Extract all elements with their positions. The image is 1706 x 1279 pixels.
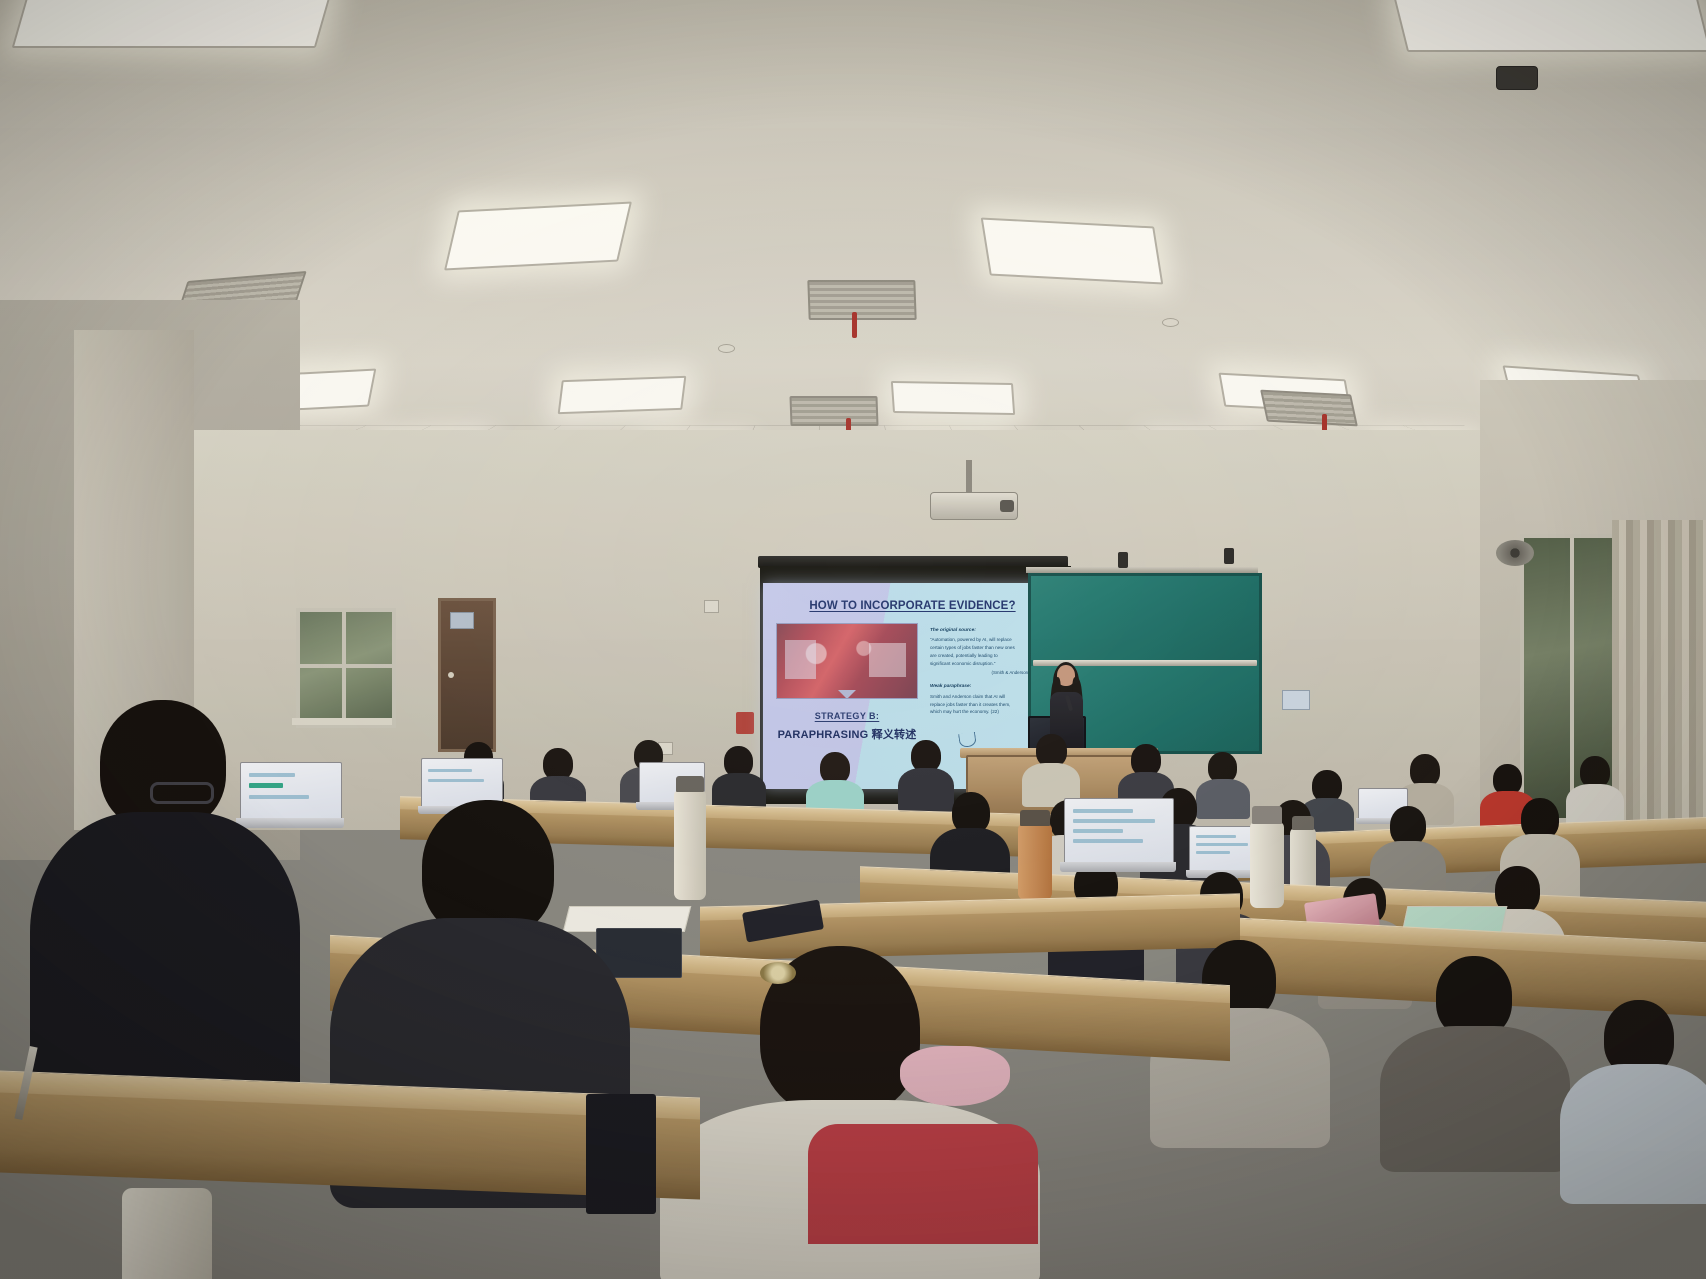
student-head — [100, 700, 226, 830]
ceiling-clip — [852, 312, 857, 338]
student — [1022, 734, 1080, 806]
smoke-detector-icon — [1162, 318, 1179, 327]
water-bottle — [1250, 822, 1284, 908]
door-knob-icon[interactable] — [448, 672, 454, 678]
blackboard-lamp — [1118, 552, 1128, 568]
door-sign — [450, 612, 474, 629]
curtain — [1612, 520, 1706, 860]
ceiling-light — [981, 217, 1164, 284]
window-sill — [292, 718, 392, 725]
slide-photo-thumbnail — [776, 623, 918, 699]
ceiling-light — [12, 0, 333, 48]
student — [1380, 956, 1570, 1166]
student-body — [1560, 1064, 1706, 1204]
student — [30, 700, 300, 1100]
smoke-detector-icon — [718, 344, 735, 353]
laptop-base — [1060, 862, 1176, 872]
water-bottle — [1290, 828, 1316, 892]
ceiling-vent — [807, 280, 916, 320]
student — [1560, 1000, 1706, 1200]
camera-icon — [1496, 66, 1538, 90]
projector-mount — [966, 460, 972, 496]
blackboard-lamp — [1224, 548, 1234, 564]
projector-lens-icon — [1000, 500, 1014, 512]
student-body — [1380, 1026, 1570, 1172]
ceiling-light — [891, 381, 1015, 415]
slide-strategy-label: STRATEGY B: — [773, 711, 921, 721]
bottle-cap-icon — [1252, 806, 1282, 824]
eyeglasses-icon — [150, 782, 214, 804]
wall-outlet — [704, 600, 719, 613]
ceiling-light — [558, 376, 687, 414]
student-body — [30, 812, 300, 1112]
hair-clip-icon — [760, 962, 796, 984]
smartphone[interactable] — [586, 1094, 656, 1214]
laptop-screen — [1064, 798, 1174, 864]
student-scarf — [808, 1124, 1038, 1244]
laptop[interactable] — [1060, 798, 1176, 872]
bottle-cap-icon — [1020, 810, 1050, 826]
bottle-cap-icon — [1292, 816, 1314, 830]
blackboard-panel — [1031, 576, 1259, 660]
face-mask — [900, 1046, 1010, 1106]
ceiling-light — [1393, 0, 1706, 52]
down-arrow-icon — [838, 690, 856, 699]
blackboard-poster — [1282, 690, 1310, 710]
bottle-cap-icon — [676, 776, 704, 792]
student — [712, 746, 766, 812]
lecture-hall-photo: HOW TO INCORPORATE EVIDENCE? STRATEGY B:… — [0, 0, 1706, 1279]
fire-alarm-icon — [736, 712, 754, 734]
slide-title: HOW TO INCORPORATE EVIDENCE? — [763, 600, 1062, 612]
water-bottle — [1018, 824, 1052, 900]
slide-left-column: STRATEGY B: PARAPHRASING 释义转述 — [773, 623, 921, 742]
ceiling-vent — [1260, 390, 1358, 427]
wall-fan-icon — [1496, 540, 1534, 566]
slide-annotation-mark — [958, 732, 977, 748]
ceiling-vent — [789, 396, 878, 426]
student-head — [1390, 806, 1426, 846]
window-left — [296, 608, 396, 728]
ceiling-light — [444, 201, 632, 270]
water-bottle — [674, 790, 706, 900]
water-bottle — [122, 1188, 212, 1279]
